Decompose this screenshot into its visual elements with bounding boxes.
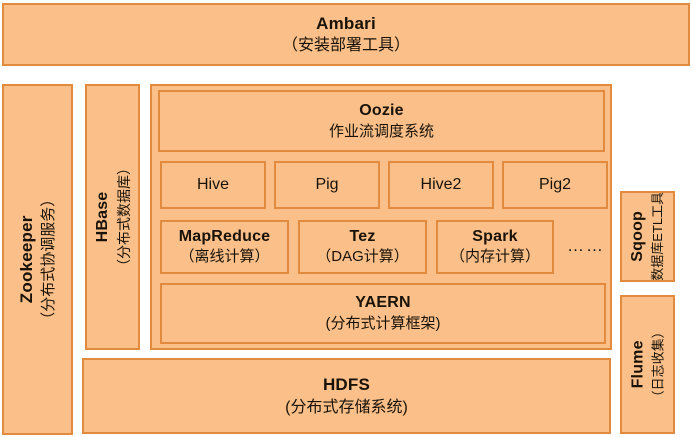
- component-ambari: Ambari （安装部署工具）: [2, 3, 690, 66]
- yarn-title: YAERN: [355, 293, 411, 313]
- hbase-label-group: HBase （分布式数据库）: [93, 161, 133, 273]
- hbase-subtitle: （分布式数据库）: [114, 161, 132, 273]
- component-pig: Pig: [274, 161, 380, 209]
- sqoop-label-group: Sqoop （数据库ETL工具）: [628, 191, 667, 282]
- mapreduce-title: MapReduce: [179, 227, 271, 247]
- oozie-subtitle: 作业流调度系统: [329, 123, 434, 142]
- sqoop-title: Sqoop: [628, 211, 649, 262]
- ambari-title: Ambari: [316, 13, 376, 34]
- sqoop-subtitle: （数据库ETL工具）: [650, 191, 667, 282]
- pig-label: Pig: [315, 175, 338, 195]
- hive-label: Hive: [197, 175, 229, 195]
- mapreduce-subtitle: （离线计算）: [179, 248, 269, 267]
- spark-subtitle: （内存计算）: [450, 248, 540, 267]
- zookeeper-label-group: Zookeeper （分布式协调服务）: [16, 192, 59, 327]
- hadoop-ecosystem-diagram: Ambari （安装部署工具） Zookeeper （分布式协调服务） HBas…: [0, 0, 692, 437]
- hbase-title: HBase: [93, 192, 114, 243]
- component-pig2: Pig2: [502, 161, 608, 209]
- hdfs-title: HDFS: [323, 374, 370, 395]
- zookeeper-title: Zookeeper: [16, 216, 38, 304]
- hdfs-subtitle: (分布式存储系统): [285, 398, 408, 418]
- component-spark: Spark （内存计算）: [436, 220, 554, 274]
- ellipsis-more-engines: ……: [560, 232, 612, 260]
- component-yarn: YAERN (分布式计算框架): [160, 283, 606, 344]
- component-flume: Flume （日志收集）: [620, 295, 675, 434]
- ambari-subtitle: （安装部署工具）: [282, 36, 410, 56]
- hive2-label: Hive2: [421, 175, 462, 195]
- component-hive: Hive: [160, 161, 266, 209]
- pig2-label: Pig2: [539, 175, 571, 195]
- component-sqoop: Sqoop （数据库ETL工具）: [620, 191, 675, 282]
- component-hbase: HBase （分布式数据库）: [85, 84, 140, 350]
- zookeeper-subtitle: （分布式协调服务）: [39, 192, 59, 327]
- component-zookeeper: Zookeeper （分布式协调服务）: [2, 84, 73, 435]
- component-oozie: Oozie 作业流调度系统: [158, 90, 605, 152]
- component-tez: Tez （DAG计算）: [298, 220, 427, 274]
- oozie-title: Oozie: [359, 101, 404, 121]
- yarn-subtitle: (分布式计算框架): [326, 315, 441, 334]
- spark-title: Spark: [472, 227, 517, 247]
- tez-title: Tez: [349, 227, 375, 247]
- flume-subtitle: （日志收集）: [650, 325, 667, 403]
- flume-label-group: Flume （日志收集）: [628, 325, 667, 403]
- component-hive2: Hive2: [388, 161, 494, 209]
- flume-title: Flume: [628, 340, 649, 388]
- component-mapreduce: MapReduce （离线计算）: [160, 220, 289, 274]
- tez-subtitle: （DAG计算）: [316, 248, 409, 267]
- component-hdfs: HDFS (分布式存储系统): [82, 358, 611, 434]
